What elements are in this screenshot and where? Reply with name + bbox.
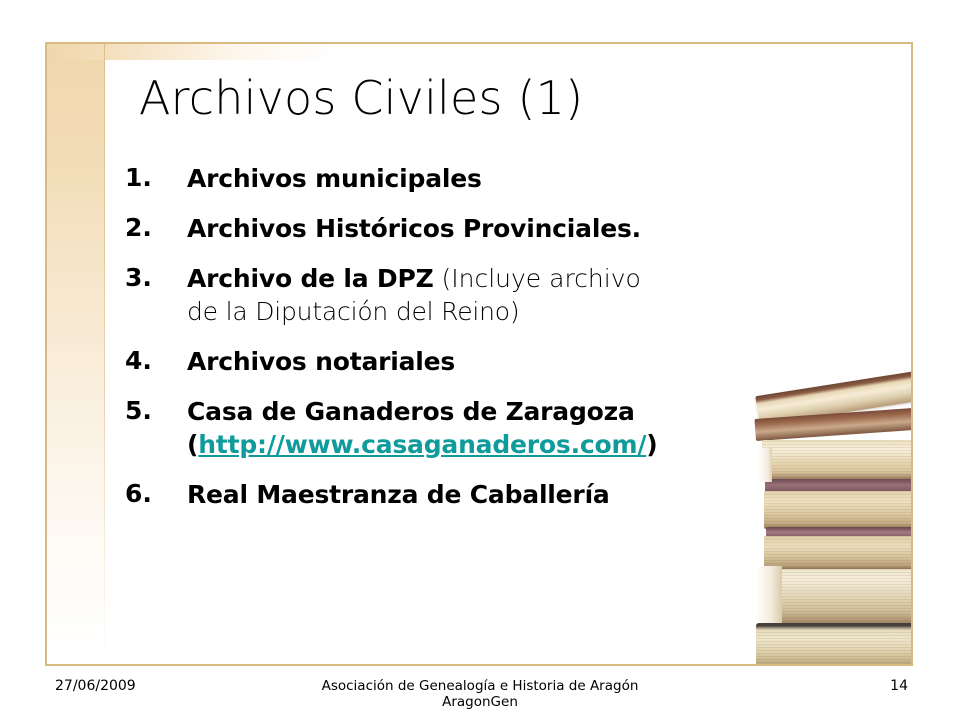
list-item-label: Archivos Históricos Provinciales. xyxy=(187,212,815,245)
slide: Archivos Civiles (1) 1. Archivos municip… xyxy=(0,0,960,720)
list-item-bold-text: Archivo de la DPZ xyxy=(187,264,434,293)
list-item-url-line: (http://www.casaganaderos.com/) xyxy=(187,428,815,461)
book-layer-4 xyxy=(764,491,913,529)
list-item-number: 5. xyxy=(125,395,187,426)
page-edge-texture xyxy=(776,569,913,625)
footer-organization: Asociación de Genealogía e Historia de A… xyxy=(0,678,960,710)
list-item-number: 1. xyxy=(125,162,187,193)
list-item-label: Archivos municipales xyxy=(187,162,815,195)
list-item: 4. Archivos notariales xyxy=(125,345,815,378)
list-item: 2. Archivos Históricos Provinciales. xyxy=(125,212,815,245)
page-title: Archivos Civiles (1) xyxy=(139,71,583,125)
list-item: 5. Casa de Ganaderos de Zaragoza(http://… xyxy=(125,395,815,461)
list-item: 6. Real Maestranza de Caballería xyxy=(125,478,815,511)
decorative-band-edge xyxy=(104,44,105,664)
book-layer-8 xyxy=(756,623,913,666)
book-page-block-lower xyxy=(756,566,782,626)
list-item: 3. Archivo de la DPZ (Incluye archivode … xyxy=(125,262,815,328)
book-page-block-upper xyxy=(758,448,772,482)
list-item-number: 3. xyxy=(125,262,187,293)
footer-page-number: 14 xyxy=(890,678,908,694)
list-item-label: Casa de Ganaderos de Zaragoza(http://www… xyxy=(187,395,815,461)
decorative-left-band xyxy=(47,44,105,664)
page-edge-texture xyxy=(764,536,913,570)
footer-organization-line1: Asociación de Genealogía e Historia de A… xyxy=(0,678,960,694)
book-layer-6 xyxy=(764,536,913,570)
casaganaderos-link[interactable]: http://www.casaganaderos.com/ xyxy=(198,430,646,459)
paren-open: ( xyxy=(187,430,198,459)
list-item-number: 2. xyxy=(125,212,187,243)
list-item-note-line2: de la Diputación del Reino) xyxy=(187,295,815,328)
list-item-bold-text: Casa de Ganaderos de Zaragoza xyxy=(187,397,635,426)
list-item-label: Archivos notariales xyxy=(187,345,815,378)
slide-footer: 27/06/2009 Asociación de Genealogía e Hi… xyxy=(0,672,960,720)
list-item-label: Real Maestranza de Caballería xyxy=(187,478,815,511)
archives-list: 1. Archivos municipales 2. Archivos Hist… xyxy=(125,162,815,528)
slide-content-frame: Archivos Civiles (1) 1. Archivos municip… xyxy=(45,42,913,666)
page-edge-texture xyxy=(762,441,913,481)
list-item-label: Archivo de la DPZ (Incluye archivode la … xyxy=(187,262,815,328)
book-layer-2 xyxy=(762,440,913,481)
list-item: 1. Archivos municipales xyxy=(125,162,815,195)
books-stack-image xyxy=(752,396,913,666)
list-item-note-line1: (Incluye archivo xyxy=(434,264,641,293)
page-edge-texture xyxy=(764,491,913,529)
paren-close: ) xyxy=(646,430,657,459)
list-item-number: 6. xyxy=(125,478,187,509)
list-item-number: 4. xyxy=(125,345,187,376)
footer-organization-line2: AragonGen xyxy=(0,694,960,710)
book-layer-7 xyxy=(776,569,913,625)
page-edge-texture xyxy=(756,623,913,666)
decorative-top-band xyxy=(47,44,911,60)
